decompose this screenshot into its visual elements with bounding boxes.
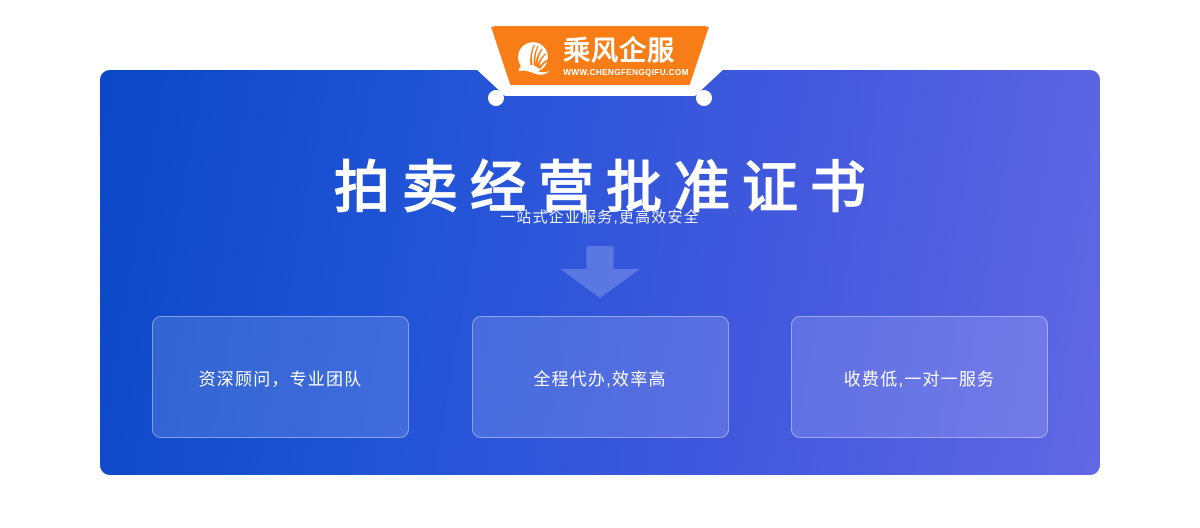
brand-logo-tab[interactable]: 乘风企服 WWW.CHENGFENGQIFU.COM <box>478 26 722 94</box>
banner-panel: 拍卖经营批准证书 一站式企业服务,更高效安全 资深顾问，专业团队 全程代办,效率… <box>100 70 1100 475</box>
feature-card[interactable]: 收费低,一对一服务 <box>791 316 1048 438</box>
feature-card[interactable]: 资深顾问，专业团队 <box>152 316 409 438</box>
banner-subtitle: 一站式企业服务,更高效安全 <box>100 206 1100 227</box>
feature-card-label: 全程代办,效率高 <box>533 365 666 390</box>
feature-card[interactable]: 全程代办,效率高 <box>472 316 729 438</box>
feature-card-label: 资深顾问，专业团队 <box>199 365 363 390</box>
arrow-down-icon <box>560 246 640 298</box>
feature-card-list: 资深顾问，专业团队 全程代办,效率高 收费低,一对一服务 <box>152 316 1048 438</box>
arrow-down-container <box>100 246 1100 298</box>
logo-wordmark: 乘风企服 WWW.CHENGFENGQIFU.COM <box>563 38 689 77</box>
brand-website: WWW.CHENGFENGQIFU.COM <box>563 69 689 77</box>
promo-banner: 拍卖经营批准证书 一站式企业服务,更高效安全 资深顾问，专业团队 全程代办,效率… <box>0 0 1200 528</box>
brand-name: 乘风企服 <box>563 38 675 65</box>
logo-content: 乘风企服 WWW.CHENGFENGQIFU.COM <box>478 26 722 94</box>
leaf-sail-circle-icon <box>511 36 555 80</box>
feature-card-label: 收费低,一对一服务 <box>844 365 996 390</box>
